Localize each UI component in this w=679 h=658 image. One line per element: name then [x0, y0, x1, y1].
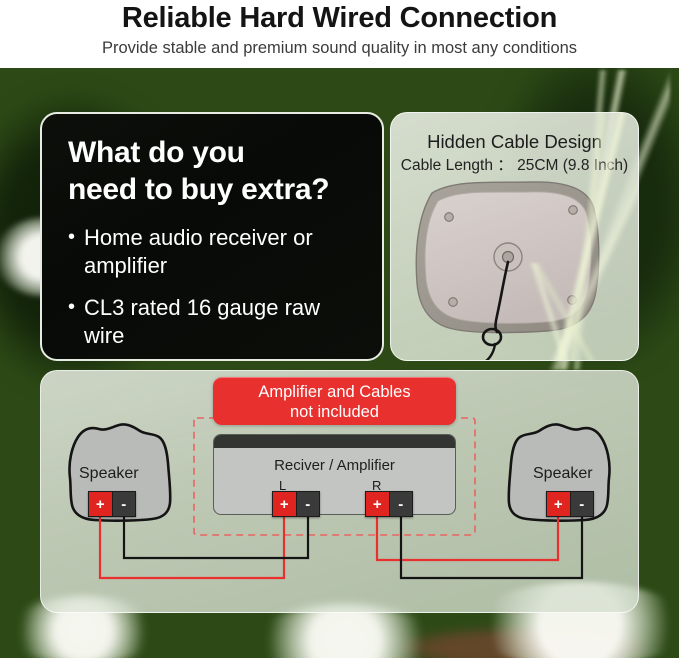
buy-extra-title-line1: What do you — [68, 136, 245, 169]
terminal-positive: + — [546, 491, 570, 517]
terminal-positive: + — [365, 491, 389, 517]
screw-icon — [449, 298, 458, 307]
header-band: Reliable Hard Wired Connection Provide s… — [0, 0, 679, 68]
hidden-cable-card: Hidden Cable Design Cable Length ： 25CM … — [390, 112, 639, 361]
terminal-negative: - — [389, 491, 414, 517]
amplifier-right-terminals: + - — [365, 491, 413, 517]
amplifier-top-strip — [214, 435, 455, 448]
terminal-negative: - — [112, 491, 137, 517]
hidden-cable-title: Hidden Cable Design — [391, 131, 638, 153]
speaker-right-label: Speaker — [533, 465, 593, 483]
buy-extra-list: Home audio receiver or amplifier CL3 rat… — [68, 224, 358, 350]
terminal-negative: - — [296, 491, 321, 517]
speaker-right-terminals: + - — [546, 491, 594, 517]
speaker-left-label: Speaker — [79, 465, 139, 483]
buy-extra-title-line2: need to buy extra? — [68, 173, 329, 206]
speaker-left-terminals: + - — [88, 491, 136, 517]
list-item: CL3 rated 16 gauge raw wire — [68, 294, 358, 350]
buy-extra-card: What do you need to buy extra? Home audi… — [40, 112, 384, 361]
not-included-banner: Amplifier and Cables not included — [213, 377, 456, 425]
list-item: Home audio receiver or amplifier — [68, 224, 358, 280]
cable-tail — [486, 344, 495, 361]
amplifier-label: Reciver / Amplifier — [214, 457, 455, 474]
amplifier-body: Reciver / Amplifier — [213, 434, 456, 515]
terminal-negative: - — [570, 491, 595, 517]
buy-extra-title: What do you need to buy extra? — [68, 134, 358, 208]
speaker-backplate-illustration — [391, 171, 639, 361]
amplifier-left-terminals: + - — [272, 491, 320, 517]
page-subtitle: Provide stable and premium sound quality… — [102, 37, 577, 59]
terminal-positive: + — [88, 491, 112, 517]
not-included-banner-text: Amplifier and Cables not included — [258, 382, 410, 422]
terminal-positive: + — [272, 491, 296, 517]
screw-icon — [568, 296, 577, 305]
banner-line2: not included — [290, 403, 379, 421]
screw-icon — [569, 206, 578, 215]
infographic-root: Reliable Hard Wired Connection Provide s… — [0, 0, 679, 658]
screw-icon — [445, 213, 454, 222]
page-title: Reliable Hard Wired Connection — [122, 1, 557, 35]
banner-line1: Amplifier and Cables — [258, 383, 410, 401]
